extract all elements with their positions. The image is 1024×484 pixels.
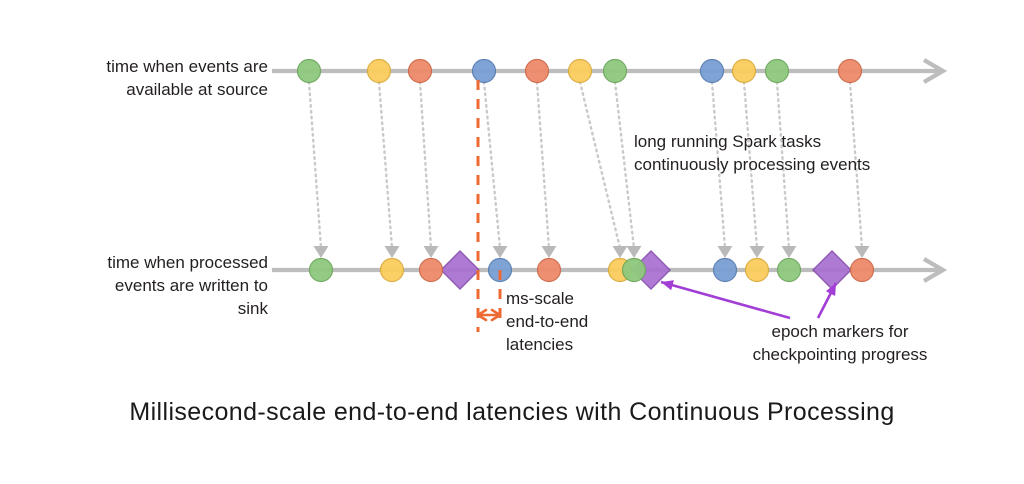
flow-line-2 (379, 82, 392, 248)
flow-arrowhead-4 (493, 246, 508, 258)
flow-arrowhead-11 (855, 246, 870, 258)
sink-timeline-event-5-orange[interactable] (538, 259, 561, 282)
source-timeline-event-1-green[interactable] (298, 60, 321, 83)
source-timeline-label: time when events are available at source (28, 56, 268, 102)
figure-caption: Millisecond-scale end-to-end latencies w… (0, 398, 1024, 427)
sink-timeline-event-1-green[interactable] (310, 259, 333, 282)
flow-arrowhead-9 (750, 246, 765, 258)
epoch-callout-arrow-left-shaft (661, 282, 790, 318)
flow-arrowhead-5 (542, 246, 557, 258)
sink-timeline-event-10-green[interactable] (778, 259, 801, 282)
flow-line-4 (484, 82, 500, 248)
flow-arrowhead-7 (627, 246, 642, 258)
flow-arrowhead-3 (424, 246, 439, 258)
spark-tasks-annotation: long running Spark tasks continuously pr… (634, 131, 1014, 177)
flow-line-1 (309, 82, 321, 248)
sink-timeline-event-11-orange[interactable] (851, 259, 874, 282)
sink-timeline-event-8-blue[interactable] (714, 259, 737, 282)
flow-arrowhead-10 (782, 246, 797, 258)
ms-latency-annotation: ms-scale end-to-end latencies (506, 288, 666, 357)
source-timeline-event-9-yellow[interactable] (733, 60, 756, 83)
flow-arrowhead-6 (613, 246, 628, 258)
flow-line-3 (420, 82, 431, 248)
epoch-markers-annotation: epoch markers for checkpointing progress (700, 321, 980, 367)
sink-timeline-event-2-yellow[interactable] (381, 259, 404, 282)
epoch-marker-3[interactable] (813, 251, 851, 289)
sink-timeline-event-3-orange[interactable] (420, 259, 443, 282)
flow-line-7 (615, 82, 634, 248)
source-timeline-event-2-yellow[interactable] (368, 60, 391, 83)
sink-timeline-label: time when processed events are written t… (28, 252, 268, 321)
source-timeline-event-3-orange[interactable] (409, 60, 432, 83)
flow-arrowhead-8 (718, 246, 733, 258)
source-timeline-event-6-yellow[interactable] (569, 60, 592, 83)
flow-arrowhead-1 (314, 246, 329, 258)
sink-timeline-event-7-green[interactable] (623, 259, 646, 282)
flow-line-6 (580, 82, 620, 248)
source-timeline-event-5-orange[interactable] (526, 60, 549, 83)
source-timeline-event-7-green[interactable] (604, 60, 627, 83)
flow-arrowhead-2 (385, 246, 400, 258)
epoch-marker-1[interactable] (441, 251, 479, 289)
source-timeline-event-8-blue[interactable] (701, 60, 724, 83)
flow-line-5 (537, 82, 549, 248)
diagram-canvas: time when events are available at source… (0, 0, 1024, 484)
sink-timeline-event-9-yellow[interactable] (746, 259, 769, 282)
source-timeline-event-11-orange[interactable] (839, 60, 862, 83)
source-timeline-event-4-blue[interactable] (473, 60, 496, 83)
source-timeline-event-10-green[interactable] (766, 60, 789, 83)
